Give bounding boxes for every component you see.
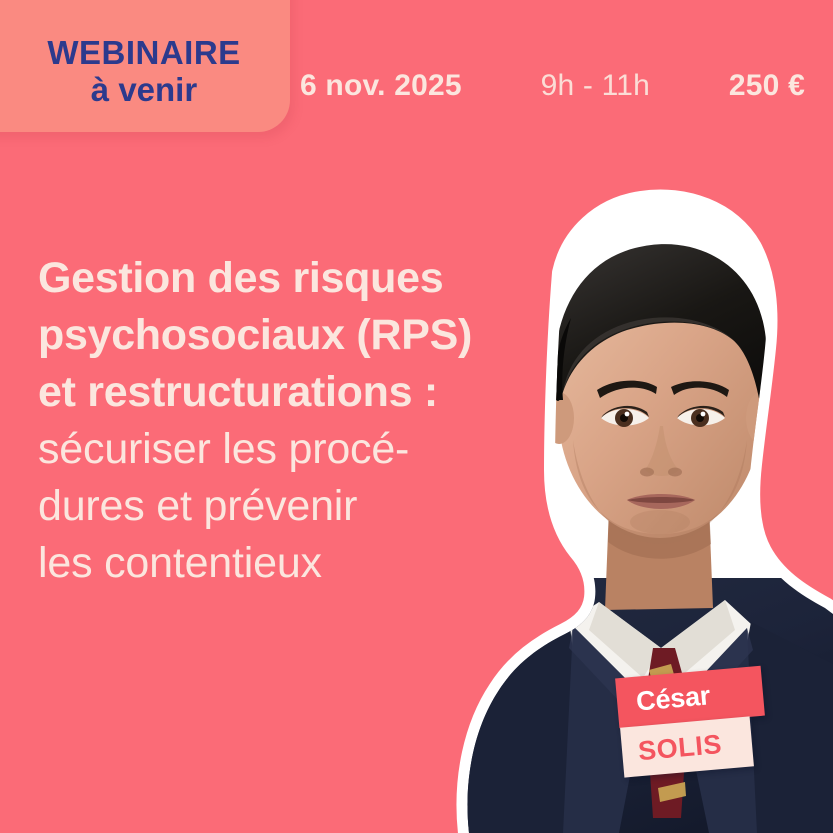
- speaker-last-name: SOLIS: [637, 730, 723, 764]
- event-date: 6 nov. 2025: [300, 69, 462, 103]
- webinar-poster: WEBINAIRE à venir 6 nov. 2025 9h - 11h 2…: [0, 0, 833, 833]
- event-price: 250 €: [729, 69, 805, 103]
- speaker-first-name: César: [635, 682, 711, 715]
- speaker-last-name-block: SOLIS: [620, 716, 754, 777]
- header-meta-row: 6 nov. 2025 9h - 11h 250 €: [300, 62, 805, 110]
- webinar-upcoming-tag: WEBINAIRE à venir: [0, 0, 290, 132]
- webinar-tag-line2: à venir: [91, 71, 197, 110]
- event-time: 9h - 11h: [541, 69, 650, 103]
- webinar-tag-line1: WEBINAIRE: [47, 36, 240, 71]
- speaker-name-badge: César SOLIS: [617, 667, 792, 782]
